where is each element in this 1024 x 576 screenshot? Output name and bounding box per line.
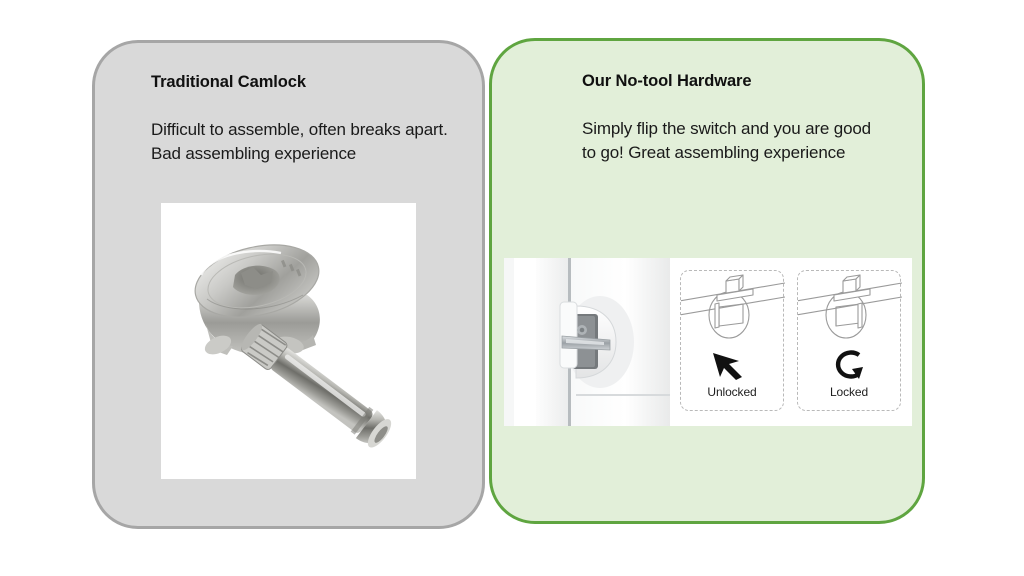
panel-traditional-camlock: Traditional Camlock Difficult to assembl…: [92, 40, 485, 529]
panel-no-tool-hardware: Our No-tool Hardware Simply flip the swi…: [489, 38, 925, 524]
panel-body-traditional: Difficult to assemble, often breaks apar…: [151, 118, 451, 165]
instruction-pane-locked: Locked: [797, 270, 901, 411]
instruction-pane-unlocked: Unlocked: [680, 270, 784, 411]
hardware-media-strip: Unlocked: [504, 258, 912, 426]
lock-instruction-card: Unlocked: [670, 258, 912, 426]
camlock-and-dowel-photo: [161, 203, 416, 479]
camlock-photo-artwork: [161, 203, 416, 479]
cam-lock-open-diagram: [681, 271, 785, 351]
instruction-label-locked: Locked: [798, 385, 900, 399]
door-hardware-photo: [504, 258, 670, 426]
panel-title-traditional: Traditional Camlock: [151, 73, 306, 92]
cam-lock-closed-diagram: [798, 271, 902, 351]
arrow-up-left-icon: [681, 349, 783, 386]
door-hardware-artwork: [504, 258, 670, 426]
instruction-label-unlocked: Unlocked: [681, 385, 783, 399]
slide-canvas: { "slide": { "layout": "two-column-compa…: [0, 0, 1024, 576]
panel-body-no-tool: Simply flip the switch and you are good …: [582, 117, 872, 164]
panel-title-no-tool: Our No-tool Hardware: [582, 72, 751, 91]
rotate-arrow-icon: [798, 349, 900, 386]
